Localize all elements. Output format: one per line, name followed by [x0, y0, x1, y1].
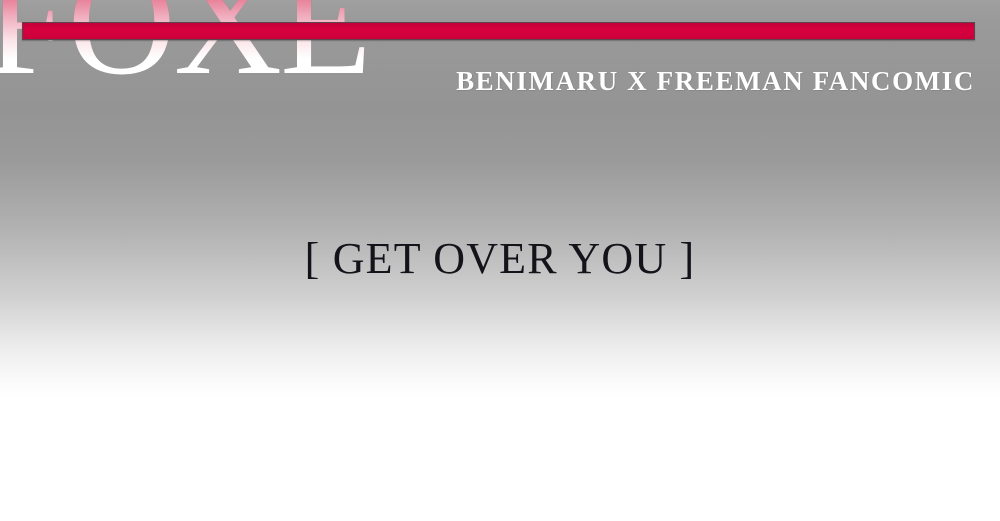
series-subtitle: BENIMARU X FREEMAN FANCOMIC	[0, 66, 975, 97]
red-rule-bar	[22, 22, 975, 40]
foxe-wordmark: FOXE	[0, 0, 406, 118]
episode-title: [ GET OVER YOU ]	[0, 233, 1000, 284]
comic-title-page: FOXE BENIMARU X FREEMAN FANCOMIC [ GET O…	[0, 0, 1000, 521]
page-body-blank-area	[0, 400, 1000, 521]
